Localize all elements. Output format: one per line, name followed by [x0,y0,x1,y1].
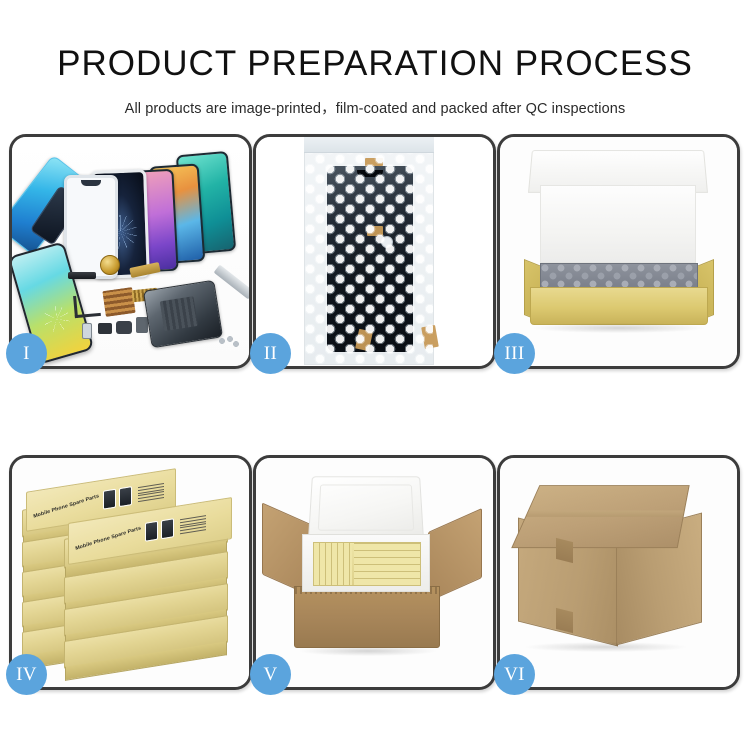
small-part-4 [136,317,148,333]
foam-sheet [540,185,696,263]
header: PRODUCT PREPARATION PROCESS All products… [0,0,750,118]
step-4-image: Mobile Phone Spare Parts [12,458,249,687]
carton-body [294,586,440,648]
page-title: PRODUCT PREPARATION PROCESS [0,0,750,81]
box-label-spec-lines [138,483,164,502]
step-panel-2: II [253,134,496,369]
step-panel-5: V [253,455,496,690]
box-label-thumbnails [145,518,174,542]
foam-box-lid [308,476,424,540]
step-5-image [256,458,493,687]
battery-connector-strip [68,272,96,279]
small-part-3 [116,321,132,334]
step-badge-2: II [250,333,291,374]
bubble-wrap-pouch [304,143,434,365]
bubble-texture-overlay [305,144,433,364]
flex-cable-a [73,294,101,318]
step-panel-3: III [497,134,740,369]
tweezers-tool [214,265,249,300]
carton-top-face [511,485,690,548]
carton-tape-lower [556,608,573,633]
page-subtitle: All products are image-printed，film-coat… [0,81,750,118]
small-part-2 [98,323,112,334]
box-label-text: Mobile Phone Spare Parts [33,493,100,520]
carton-shadow [526,642,686,652]
speaker-module [100,255,120,275]
step-badge-5: V [250,654,291,695]
process-steps-grid: I II [9,134,741,690]
step-panel-4: Mobile Phone Spare Parts [9,455,252,690]
step-panel-1: I [9,134,252,369]
step-1-image [12,137,249,366]
step-badge-3: III [494,333,535,374]
box-front-panel [530,287,708,325]
step-6-image [500,458,737,687]
step-badge-6: VI [494,654,535,695]
step-panel-6: VI [497,455,740,690]
carton-tape-upper [556,538,573,563]
product-preparation-infographic: PRODUCT PREPARATION PROCESS All products… [0,0,750,750]
pouch-seal [304,137,434,153]
box-shadow [534,323,704,333]
box-label-text: Mobile Phone Spare Parts [75,525,142,552]
box-label-spec-lines [180,515,206,534]
phone-back-housing [143,280,223,349]
step-2-image [256,137,493,366]
box-label-thumbnails [103,486,132,510]
carton-rim [292,580,442,589]
small-part-1 [82,323,92,339]
step-3-image [500,137,737,366]
step-badge-1: I [6,333,47,374]
step-badge-4: IV [6,654,47,695]
box-stack: Mobile Phone Spare Parts [16,472,244,672]
screws [218,335,240,347]
